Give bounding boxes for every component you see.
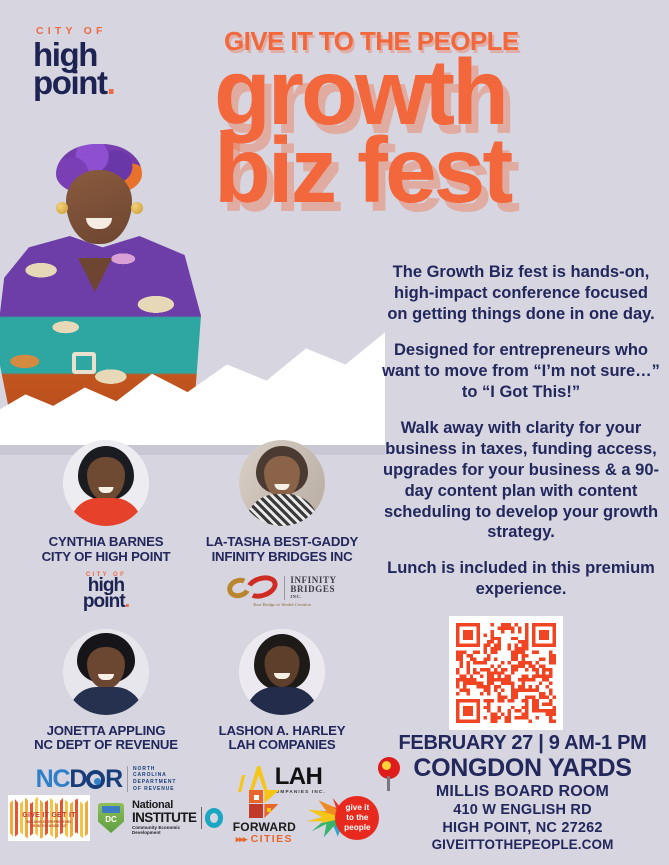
speaker-org-logo: INFINITY BRIDGES INC. Your Bridge to Wea… [194, 571, 370, 611]
avatar [63, 629, 149, 715]
avatar [63, 440, 149, 526]
copy-paragraph-2: Designed for entrepreneurs who want to m… [382, 340, 660, 403]
speaker-org-logo: CITY OF high point. [18, 571, 194, 611]
event-website[interactable]: GIVEITTOTHEPEOPLE.COM [380, 837, 665, 854]
speaker-org: CITY OF HIGH POINT [18, 550, 194, 565]
forward-cities-line-1: FORWARD [231, 821, 297, 833]
speaker-photo [239, 440, 325, 526]
give-it-to-the-people-text: give it to the people [344, 803, 370, 832]
city-of-high-point-logo-small: CITY OF high point. [83, 572, 129, 609]
give-it-to-the-people-badge: give it to the people [335, 796, 379, 840]
logo-divider [284, 576, 285, 600]
speakers-row-2: JONETTA APPLING NC DEPT OF REVENUE NCDR … [18, 629, 370, 800]
event-room: MILLIS BOARD ROOM [380, 782, 665, 802]
speaker-card-jonetta-appling: JONETTA APPLING NC DEPT OF REVENUE NCDR … [18, 629, 194, 800]
city-of-label: CITY OF [33, 26, 163, 37]
infinity-line-2: BRIDGES [290, 585, 336, 594]
description-copy: The Growth Biz fest is hands-on, high-im… [382, 262, 660, 600]
sponsor-give-it-get-it: GIVE IT GET IT BUILDING ENTREPRENEURS FR… [8, 795, 90, 841]
qr-code[interactable] [449, 616, 563, 730]
speakers-grid: CYNTHIA BARNES CITY OF HIGH POINT CITY O… [18, 440, 370, 799]
sponsor-give-it-to-the-people: give it to the people [305, 793, 379, 843]
speaker-photo [63, 440, 149, 526]
face-shape [66, 170, 132, 244]
speaker-name: CYNTHIA BARNES [18, 535, 194, 550]
avatar [239, 440, 325, 526]
event-date-time: FEBRUARY 27 | 9 AM-1 PM [380, 732, 665, 754]
forward-cities-flag-icon [249, 790, 279, 818]
sponsor-national-institute: National INSTITUTE Community Economic De… [132, 800, 223, 836]
lah-wordmark: LAH [271, 765, 326, 789]
national-institute-line-3: Community Economic Development [132, 825, 198, 836]
give-it-get-it-line-1: GIVE IT GET IT [8, 812, 90, 819]
event-venue: CONGDON YARDS [380, 754, 665, 782]
speakers-row-1: CYNTHIA BARNES CITY OF HIGH POINT CITY O… [18, 440, 370, 611]
sponsor-forward-cities: FORWARD ▸▸▸ CITIES [231, 790, 297, 846]
give-it-get-it-line-2: BUILDING ENTREPRENEURS FROM THE INSIDE O… [8, 820, 90, 829]
qr-code-image [456, 623, 556, 723]
title-line-2: biz fest [214, 133, 669, 207]
forward-cities-line-2: ▸▸▸ CITIES [231, 833, 297, 846]
sponsor-dc-shield: DC [98, 803, 124, 833]
event-details: FEBRUARY 27 | 9 AM-1 PM CONGDON YARDS MI… [380, 732, 665, 854]
speaker-card-lashon-harley: LASHON A. HARLEY LAH COMPANIES LAH COMPA… [194, 629, 370, 800]
ncdor-o-icon [86, 770, 105, 789]
shield-text: DC [98, 815, 124, 824]
flyer-poster: CITY OF high point. GIVE IT TO THE PEOPL… [0, 0, 669, 865]
infinity-tagline: Your Bridge to Wealth Creation [227, 602, 336, 607]
speaker-card-latasha-best-gaddy: LA-TASHA BEST-GADDY INFINITY BRIDGES INC… [194, 440, 370, 611]
copy-paragraph-3: Walk away with clarity for your business… [382, 418, 660, 544]
avatar [239, 629, 325, 715]
speaker-name: LASHON A. HARLEY [194, 724, 370, 739]
infinity-loop-red [243, 571, 281, 602]
poster-title: growth biz fest [214, 55, 669, 208]
mini-word-point: point. [83, 594, 129, 610]
earring-left-icon [56, 202, 68, 214]
city-of-high-point-logo: CITY OF high point. [33, 26, 163, 97]
speaker-org: NC DEPT OF REVENUE [18, 738, 194, 753]
speaker-card-cynthia-barnes: CYNTHIA BARNES CITY OF HIGH POINT CITY O… [18, 440, 194, 611]
logo-divider [201, 807, 202, 829]
hero-portrait-photo [0, 140, 209, 430]
infinity-line-3: INC. [290, 594, 336, 600]
speaker-name: LA-TASHA BEST-GADDY [194, 535, 370, 550]
infinity-bridges-logo: INFINITY BRIDGES INC. Your Bridge to Wea… [227, 575, 336, 607]
infinity-mark-icon [227, 575, 279, 601]
belt-buckle-icon [72, 352, 96, 374]
copy-paragraph-1: The Growth Biz fest is hands-on, high-im… [382, 262, 660, 325]
teal-ring-icon [205, 808, 223, 828]
national-institute-line-2: INSTITUTE [132, 811, 198, 825]
speaker-org: LAH COMPANIES [194, 738, 370, 753]
sponsor-logo-strip: GIVE IT GET IT BUILDING ENTREPRENEURS FR… [8, 788, 368, 848]
speaker-photo [239, 629, 325, 715]
speaker-org: INFINITY BRIDGES INC [194, 550, 370, 565]
copy-paragraph-4: Lunch is included in this premium experi… [382, 558, 660, 600]
speaker-photo [63, 629, 149, 715]
event-street: 410 W ENGLISH RD [380, 802, 665, 820]
logo-word-point: point. [33, 68, 163, 98]
speaker-name: JONETTA APPLING [18, 724, 194, 739]
event-city-state-zip: HIGH POINT, NC 27262 [380, 820, 665, 838]
shield-banner [102, 806, 120, 813]
earring-right-icon [131, 202, 143, 214]
